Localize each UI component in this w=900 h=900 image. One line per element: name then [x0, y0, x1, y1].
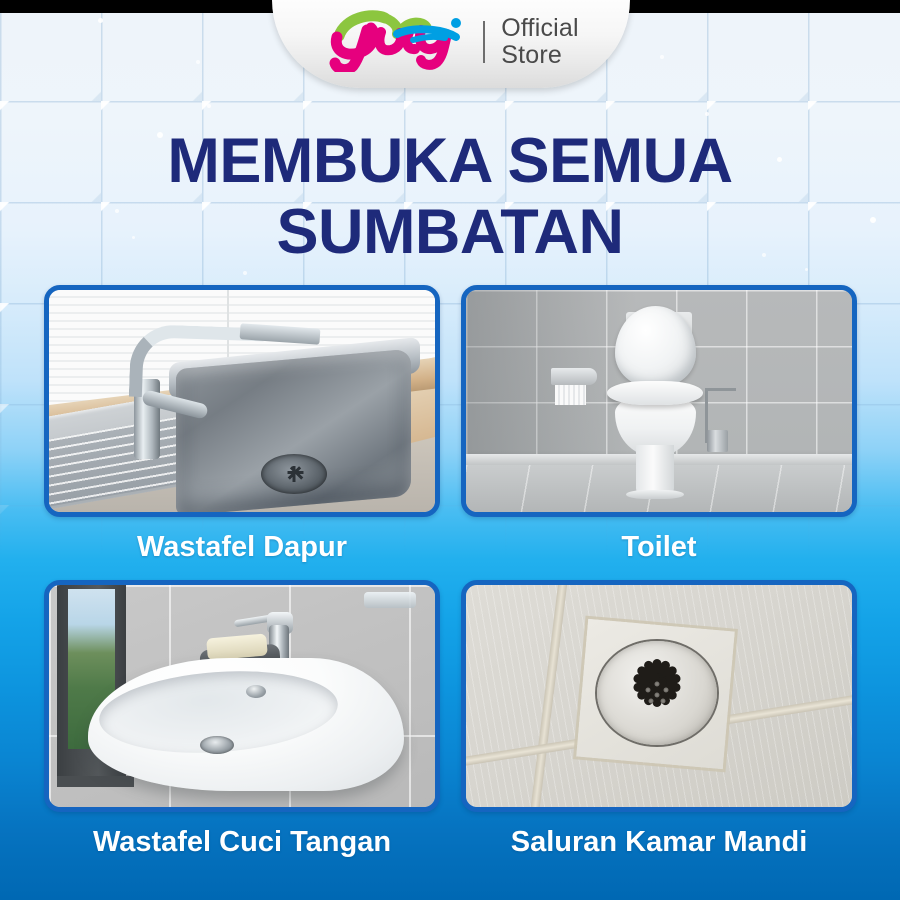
drain-center-hole: [655, 681, 660, 686]
headline-line-1: MEMBUKA SEMUA: [167, 126, 732, 196]
headline-line-2: SUMBATAN: [0, 197, 900, 268]
sparkle-dot: [660, 55, 664, 59]
official-store-label: Official Store: [501, 15, 579, 69]
photo-frame: [44, 580, 440, 812]
brand-divider: [483, 21, 485, 63]
toilet-photo: [466, 290, 852, 512]
sparkle-dot: [243, 271, 247, 275]
card-kitchen-sink[interactable]: [44, 285, 440, 517]
drain-center-hole: [649, 698, 654, 703]
card-handwash-basin[interactable]: [44, 580, 440, 812]
photo-frame: [461, 285, 857, 517]
drain-center-hole: [661, 698, 666, 703]
card-toilet[interactable]: [461, 285, 857, 517]
kitchen-sink-photo: [49, 290, 435, 512]
toilet-paper-holder-icon: [551, 368, 597, 386]
sparkle-dot: [805, 268, 808, 271]
photo-frame: [461, 580, 857, 812]
godrej-logo-icon: [323, 10, 473, 72]
caption-kitchen-sink: Wastafel Dapur: [44, 531, 440, 564]
floor-drain-photo: [466, 585, 852, 807]
floor-drain-grate-icon: [597, 641, 717, 745]
logo-dot: [451, 18, 461, 28]
brand-banner: Official Store: [272, 0, 630, 88]
page-title: MEMBUKA SEMUA SUMBATAN: [0, 126, 900, 267]
godrej-logo: [323, 10, 473, 72]
sparkle-dot: [207, 104, 211, 108]
drain-center-hole: [655, 692, 660, 697]
drain-center-hole: [646, 687, 651, 692]
card-bathroom-drain[interactable]: [461, 580, 857, 812]
caption-handwash-basin: Wastafel Cuci Tangan: [44, 826, 440, 859]
basin-drain-icon: [200, 736, 234, 754]
washbasin-photo: [49, 585, 435, 807]
caption-bathroom-drain: Saluran Kamar Mandi: [461, 826, 857, 859]
sparkle-dot: [705, 112, 709, 116]
toilet-brush-icon: [707, 430, 728, 452]
promo-poster: Official Store MEMBUKA SEMUA SUMBATAN: [0, 0, 900, 900]
caption-toilet: Toilet: [461, 531, 857, 564]
official-store-line1: Official: [501, 15, 579, 42]
photo-frame: [44, 285, 440, 517]
drain-center-hole: [664, 687, 669, 692]
sparkle-dot: [196, 60, 200, 64]
official-store-line2: Store: [501, 42, 579, 69]
sparkle-dot: [98, 18, 103, 23]
